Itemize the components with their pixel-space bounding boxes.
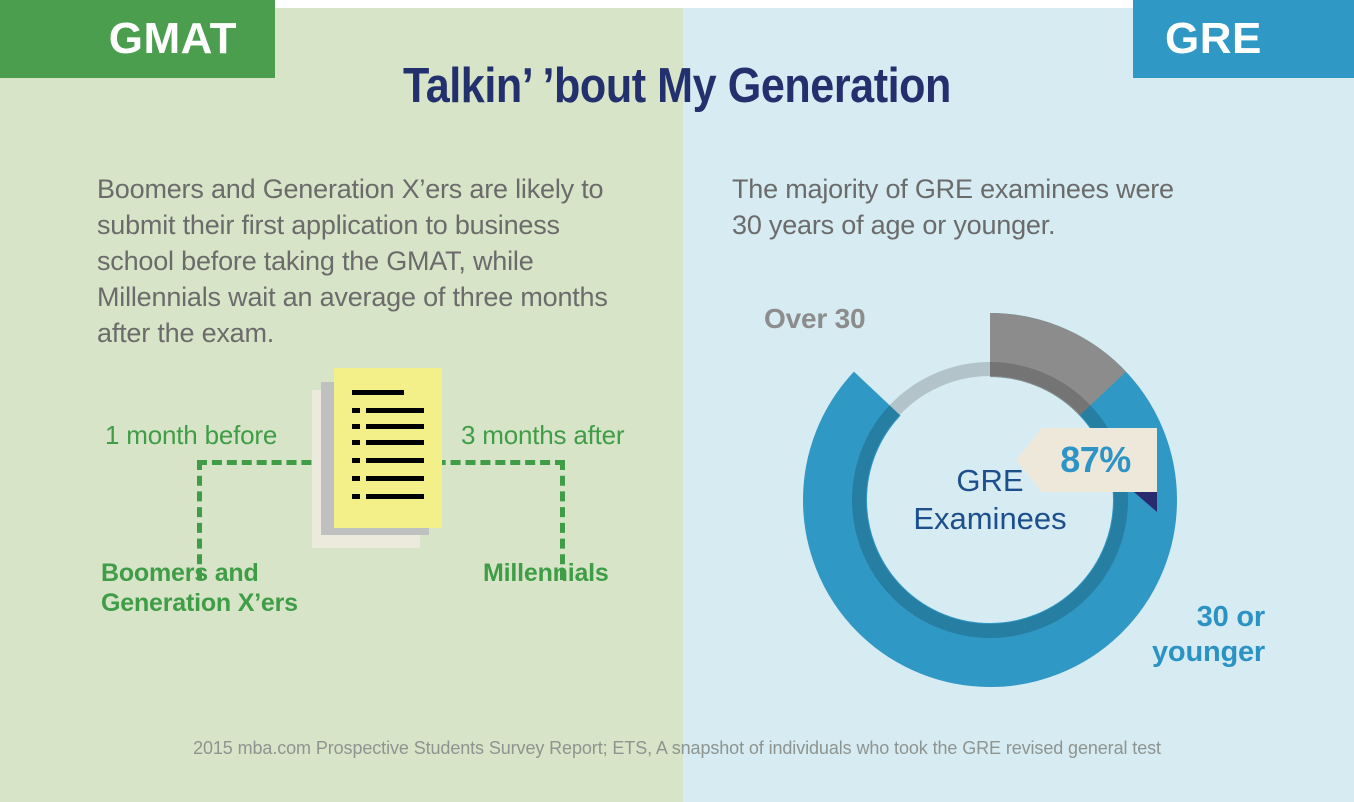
document-bullet xyxy=(352,494,360,499)
tab-gre-label: GRE xyxy=(1165,14,1262,64)
timeline-group-millennials: Millennials xyxy=(483,558,683,588)
donut-label-younger-line-1: 30 or xyxy=(1197,601,1265,633)
document-text-line xyxy=(366,440,424,445)
gmat-description-text: Boomers and Generation X’ers are likely … xyxy=(97,171,642,351)
timeline-label-before: 1 month before xyxy=(105,420,277,451)
document-bullet xyxy=(352,440,360,445)
tab-gmat-label: GMAT xyxy=(109,14,237,64)
page-title: Talkin’ ’bout My Generation xyxy=(81,58,1273,114)
document-text-line xyxy=(366,458,424,463)
document-text-line xyxy=(366,424,424,429)
timeline-label-after: 3 months after xyxy=(461,420,624,451)
document-bullet xyxy=(352,408,360,413)
source-footnote: 2015 mba.com Prospective Students Survey… xyxy=(0,738,1354,759)
document-bullet xyxy=(352,476,360,481)
document-text-line xyxy=(366,494,424,499)
percentage-badge: 87% xyxy=(1016,428,1157,492)
document-page-front-yellow xyxy=(334,368,442,528)
infographic-root: GMAT GRE Talkin’ ’bout My Generation Boo… xyxy=(0,0,1354,802)
document-text-line xyxy=(366,476,424,481)
badge-body: 87% xyxy=(1016,428,1157,492)
badge-value: 87% xyxy=(1060,439,1131,481)
donut-label-younger-line-2: younger xyxy=(1152,636,1265,668)
timeline-group-boomers: Boomers and Generation X’ers xyxy=(101,558,331,618)
document-stack-icon xyxy=(312,368,452,548)
document-bullet xyxy=(352,458,360,463)
donut-inner-shadow-ring xyxy=(859,369,1121,631)
document-bullet xyxy=(352,424,360,429)
donut-label-30-or-younger: 30 or younger xyxy=(1085,600,1265,670)
document-text-line xyxy=(366,408,424,413)
gre-description-text: The majority of GRE examinees were 30 ye… xyxy=(732,171,1202,243)
application-timing-timeline: 1 month before 3 months after Boomers an… xyxy=(97,360,657,630)
document-heading-line xyxy=(352,390,404,395)
